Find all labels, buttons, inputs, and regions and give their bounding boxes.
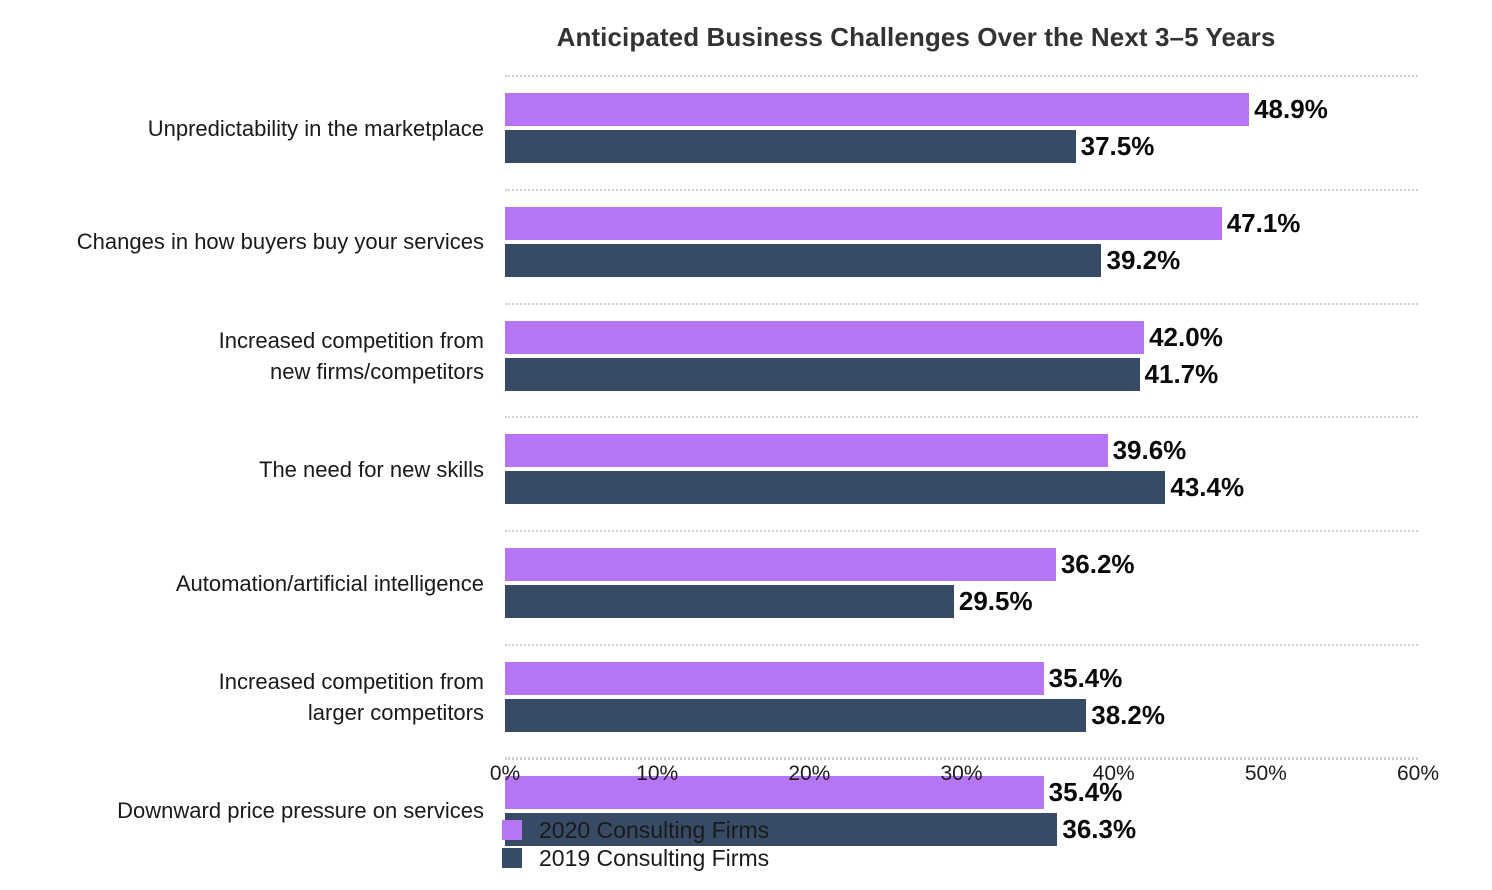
x-axis-tick-label: 20% — [788, 762, 830, 786]
chart-legend: 2020 Consulting Firms2019 Consulting Fir… — [502, 816, 769, 872]
legend-color-swatch — [502, 848, 522, 868]
category-separator-line — [505, 303, 1418, 305]
chart-category-label-line: Changes in how buyers buy your services — [0, 226, 484, 257]
chart-category-label-line: Automation/artificial intelligence — [0, 568, 484, 599]
chart-category-label: The need for new skills — [0, 454, 484, 485]
category-separator-line — [505, 416, 1418, 418]
chart-bar — [505, 471, 1165, 504]
chart-bar — [505, 207, 1222, 240]
chart-bar — [505, 244, 1101, 277]
chart-category-label: Changes in how buyers buy your services — [0, 226, 484, 257]
legend-item[interactable]: 2020 Consulting Firms — [502, 816, 769, 844]
x-axis-tick-label: 50% — [1245, 762, 1287, 786]
chart-bar-value-label: 39.6% — [1113, 434, 1187, 467]
chart-category-label-line: The need for new skills — [0, 454, 484, 485]
legend-color-swatch — [502, 820, 522, 840]
chart-bar-value-label: 29.5% — [959, 585, 1033, 618]
legend-item-label: 2020 Consulting Firms — [539, 817, 769, 844]
chart-category-label-line: Increased competition from — [0, 666, 484, 697]
chart-bar — [505, 699, 1086, 732]
chart-category-label-line: larger competitors — [0, 697, 484, 728]
category-separator-line — [505, 644, 1418, 646]
chart-category-label-line: new firms/competitors — [0, 356, 484, 387]
category-separator-line — [505, 530, 1418, 532]
x-axis-tick-label: 30% — [940, 762, 982, 786]
chart-bar-value-label: 38.2% — [1091, 699, 1165, 732]
x-axis-tick-label: 60% — [1397, 762, 1439, 786]
chart-bar-value-label: 48.9% — [1254, 93, 1328, 126]
legend-item[interactable]: 2019 Consulting Firms — [502, 844, 769, 872]
chart-bar-value-label: 43.4% — [1170, 471, 1244, 504]
chart-bar — [505, 434, 1108, 467]
chart-category-label-line: Unpredictability in the marketplace — [0, 113, 484, 144]
category-separator-line — [505, 75, 1418, 77]
chart-bar — [505, 93, 1249, 126]
chart-bar-value-label: 42.0% — [1149, 321, 1223, 354]
chart-bar-value-label: 37.5% — [1081, 130, 1155, 163]
x-axis-tick-label: 10% — [636, 762, 678, 786]
chart-category-label-line: Increased competition from — [0, 325, 484, 356]
category-separator-line — [505, 189, 1418, 191]
chart-bar — [505, 130, 1076, 163]
chart-bar-value-label: 47.1% — [1227, 207, 1301, 240]
chart-bar-value-label: 41.7% — [1145, 358, 1219, 391]
chart-bar-value-label: 36.2% — [1061, 548, 1135, 581]
chart-bar — [505, 585, 954, 618]
legend-item-label: 2019 Consulting Firms — [539, 845, 769, 872]
chart-bar — [505, 358, 1140, 391]
chart-bar-value-label: 39.2% — [1106, 244, 1180, 277]
chart-category-label: Increased competition fromlarger competi… — [0, 666, 484, 728]
chart-category-label-line: Downward price pressure on services — [0, 795, 484, 826]
chart-category-label: Increased competition fromnew firms/comp… — [0, 325, 484, 387]
chart-category-label: Unpredictability in the marketplace — [0, 113, 484, 144]
chart-category-label: Automation/artificial intelligence — [0, 568, 484, 599]
x-axis-tick-label: 0% — [490, 762, 520, 786]
chart-bar-value-label: 36.3% — [1062, 813, 1136, 846]
chart-category-label: Downward price pressure on services — [0, 795, 484, 826]
x-axis-line — [505, 757, 1418, 759]
x-axis-tick-label: 40% — [1093, 762, 1135, 786]
chart-bar-value-label: 35.4% — [1049, 662, 1123, 695]
chart-bar — [505, 662, 1044, 695]
chart-bar — [505, 321, 1144, 354]
chart-bar — [505, 548, 1056, 581]
